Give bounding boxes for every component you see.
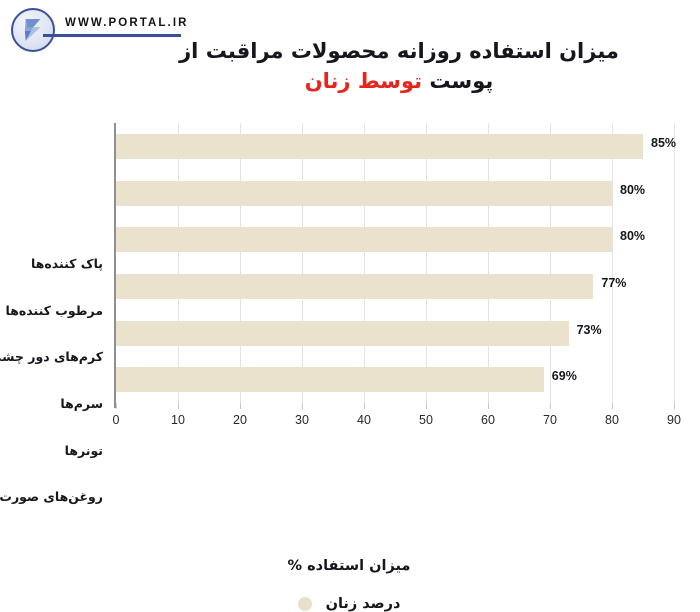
chart-legend: درصد زنان [0,596,700,612]
x-axis-tick-mark [117,403,118,409]
y-axis-category-label: تونرها [66,443,104,459]
x-axis-tick-label: 30 [296,413,310,427]
x-axis-tick-label: 60 [482,413,496,427]
bar[interactable] [117,181,613,206]
bar-row: 77% [117,263,675,310]
bar-row: 73% [117,310,675,357]
bar-value-label: 77% [602,276,627,290]
x-axis-tick-label: 20 [234,413,248,427]
x-axis-tick-label: 10 [172,413,186,427]
x-axis-title: میزان استفاده % [0,558,700,574]
x-axis-tick-mark [613,403,614,409]
x-axis-tick-mark [675,403,676,409]
bar-value-label: 69% [553,369,578,383]
x-axis-tick-mark [365,403,366,409]
portal-logo-icon [12,8,56,52]
x-axis-tick-mark [427,403,428,409]
y-axis-category-label: کرم‌های دور چشم [0,349,104,365]
plot-area: 0102030405060708090 85%80%80%77%73%69% [117,123,675,403]
bar[interactable] [117,367,545,392]
bar-value-label: 80% [621,229,646,243]
x-axis-tick-mark [303,403,304,409]
bar[interactable] [117,321,570,346]
x-axis-tick-label: 90 [668,413,682,427]
bar[interactable] [117,227,613,252]
y-axis-category-label: سرم‌ها [61,396,104,412]
y-axis-category-label: مرطوب کننده‌ها [7,303,104,319]
y-axis-category-labels: پاک کننده‌هامرطوب کننده‌هاکرم‌های دور چش… [0,241,108,526]
x-axis-tick-mark [489,403,490,409]
bar-value-label: 80% [621,183,646,197]
bar-value-label: 73% [578,323,603,337]
x-axis-tick-label: 40 [358,413,372,427]
x-axis-tick-mark [241,403,242,409]
legend-marker-icon [299,597,313,611]
x-axis-tick-label: 70 [544,413,558,427]
bar-chart: 0102030405060708090 85%80%80%77%73%69% پ… [0,118,700,518]
bar-value-label: 85% [652,136,677,150]
chart-title-line-2-black: پوست [430,69,494,93]
logo-arrow-glyph [14,10,54,50]
gridline [675,123,676,403]
site-url-text: WWW.PORTAL.IR [66,17,190,29]
bar[interactable] [117,274,594,299]
y-axis-category-label: پاک کننده‌ها [32,256,104,272]
x-axis-tick-label: 80 [606,413,620,427]
y-axis-category-label: روغن‌های صورت [0,489,104,505]
chart-title-line-2: پوست توسط زنان [120,66,680,96]
bar-row: 80% [117,170,675,217]
x-axis-tick-mark [179,403,180,409]
bar[interactable] [117,134,644,159]
chart-title-line-1: میزان استفاده روزانه محصولات مراقبت از [120,36,680,66]
bar-row: 80% [117,216,675,263]
legend-label: درصد زنان [327,596,402,612]
x-axis-tick-label: 50 [420,413,434,427]
bar-row: 69% [117,356,675,403]
chart-title: میزان استفاده روزانه محصولات مراقبت از پ… [120,36,680,96]
x-axis-tick-mark [551,403,552,409]
bar-row: 85% [117,123,675,170]
x-axis-tick-label: 0 [114,413,121,427]
chart-title-line-2-accent: توسط زنان [306,69,423,93]
